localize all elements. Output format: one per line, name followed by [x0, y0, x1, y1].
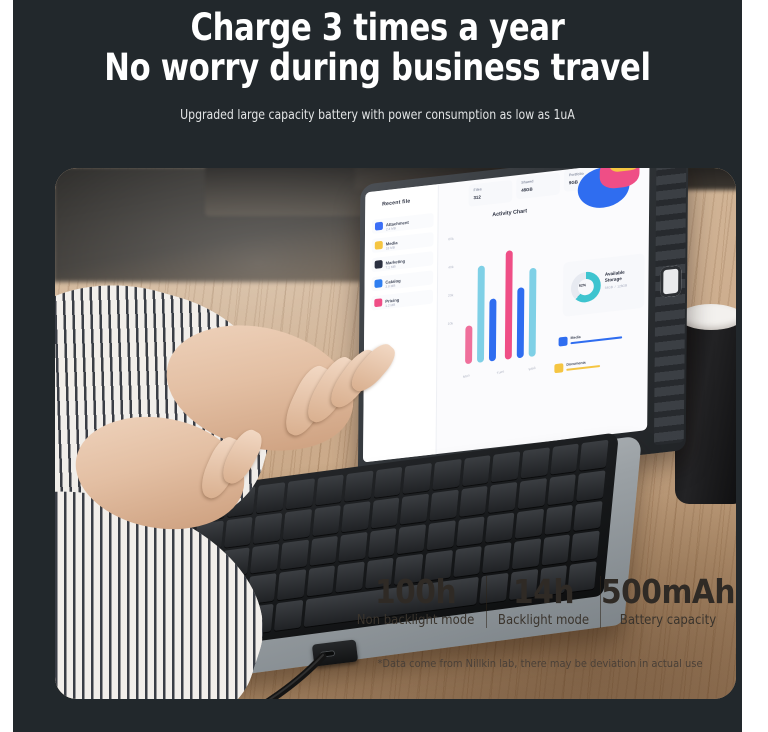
stat-label: Backlight mode: [487, 613, 600, 629]
tablet-screen: Recent file Attachment 2.4 MB Media 18 M…: [363, 168, 650, 462]
stat-backlight: 14h Backlight mode: [487, 574, 600, 629]
storage-percent: 62%: [579, 283, 586, 288]
subtitle: Upgraded large capacity battery with pow…: [49, 107, 705, 123]
chart-bar: [505, 250, 513, 360]
header-text-block: Charge 3 times a year No worry during bu…: [13, 8, 742, 123]
x-tick: Tues: [497, 369, 505, 375]
stat-label: Battery capacity: [601, 613, 735, 629]
sidebar-title: Recent file: [382, 198, 410, 207]
file-icon: [375, 222, 383, 231]
file-icon: [375, 260, 383, 269]
dark-banner-panel: Charge 3 times a year No worry during bu…: [13, 0, 742, 732]
list-item[interactable]: Attachment 2.4 MB: [372, 213, 434, 234]
x-tick: Mon: [463, 373, 470, 379]
stat-value: 500mAh: [601, 574, 735, 610]
file-meta: 1.2 MB: [385, 303, 395, 308]
documents-icon: [554, 363, 563, 373]
chip-value: 9GB: [569, 179, 578, 185]
chip-value: 312: [473, 194, 480, 200]
file-meta: 18 MB: [386, 245, 395, 250]
file-icon: [374, 298, 382, 307]
file-icon: [375, 241, 383, 250]
storage-meta: 64GB / 128GB: [605, 283, 627, 290]
stat-chip[interactable]: Files 312: [468, 180, 512, 207]
activity-chart: 60k 40k 20k 10k Mon Tues Wed: [447, 217, 575, 383]
y-tick: 60k: [448, 237, 453, 242]
chart-bar: [529, 268, 537, 357]
stat-non-backlight: 100h Non backlight mode: [345, 574, 486, 629]
progress-label: Media: [571, 335, 581, 340]
x-tick: Wed: [528, 366, 535, 372]
storage-title: Available Storage: [605, 270, 625, 284]
list-item[interactable]: Pricing 1.2 MB: [371, 289, 433, 310]
storage-title-line2: Storage: [605, 276, 622, 283]
stat-chip[interactable]: Shared 48GB: [516, 172, 560, 199]
disclaimer-footnote: *Data come from Nillkin lab, there may b…: [345, 657, 735, 670]
port-opening: [320, 650, 336, 658]
storage-meta-right: 128GB: [617, 283, 627, 288]
media-icon: [559, 336, 568, 346]
list-item[interactable]: Media 18 MB: [372, 232, 434, 253]
marketing-banner-page: Charge 3 times a year No worry during bu…: [0, 0, 768, 732]
dashboard-sidebar: Recent file Attachment 2.4 MB Media 18 M…: [363, 184, 439, 462]
chip-label: Files: [474, 187, 482, 192]
headline-line-2: No worry during business travel: [42, 48, 713, 88]
chart-bar: [465, 325, 472, 364]
stat-value: 100h: [345, 574, 486, 610]
chip-value: 48GB: [521, 186, 532, 192]
file-icon: [374, 279, 382, 288]
chip-label: Portfolio: [569, 172, 584, 178]
y-tick: 10k: [448, 321, 453, 326]
storage-card[interactable]: 62% Available Storage 64GB / 128GB: [563, 253, 645, 317]
stat-battery-capacity: 500mAh Battery capacity: [601, 574, 735, 629]
chip-label: Shared: [521, 179, 533, 184]
stat-label: Non backlight mode: [345, 613, 486, 629]
chart-bar: [517, 287, 525, 358]
headline-line-1: Charge 3 times a year: [42, 8, 713, 48]
list-item[interactable]: Catalog 3.8 MB: [371, 270, 433, 291]
chart-bar: [477, 265, 485, 363]
list-item[interactable]: Marketing 7.1 MB: [372, 251, 434, 272]
product-photo: Recent file Attachment 2.4 MB Media 18 M…: [55, 168, 736, 699]
file-meta: 3.8 MB: [385, 284, 395, 289]
y-tick: 20k: [448, 293, 453, 298]
storage-meta-left: 64GB: [605, 285, 613, 290]
file-meta: 7.1 MB: [386, 265, 396, 270]
chart-bar: [489, 298, 497, 361]
camera-cutout: [660, 265, 681, 298]
y-tick: 40k: [448, 265, 453, 270]
file-meta: 2.4 MB: [386, 226, 396, 231]
stats-row: 100h Non backlight mode 14h Backlight mo…: [345, 574, 735, 644]
stat-value: 14h: [487, 574, 600, 610]
case-textured-edge: [654, 168, 686, 445]
chart-title: Activity Chart: [492, 208, 527, 218]
